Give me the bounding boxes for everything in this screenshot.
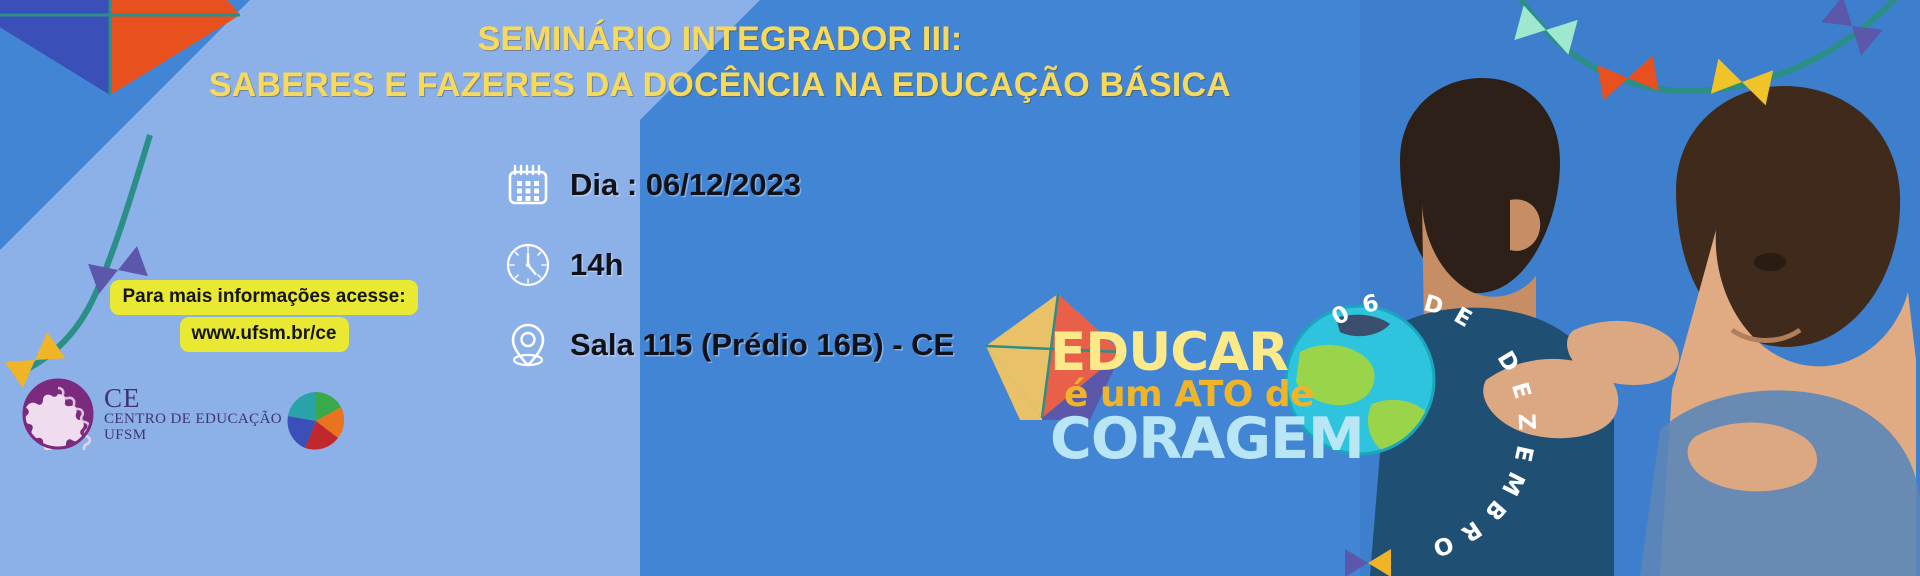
circular-date-letter: D — [1421, 290, 1446, 320]
bow-ribbon-icon — [1345, 545, 1391, 576]
ce-abbrev: CE — [104, 384, 282, 412]
calendar-icon — [500, 157, 556, 213]
circular-date-letter: M — [1496, 467, 1529, 499]
more-info-box: Para mais informações acesse: www.ufsm.b… — [84, 280, 444, 352]
event-location-text: Sala 115 (Prédio 16B) - CE — [570, 327, 954, 363]
circular-date-text: 06DEDEZEMBRO — [1255, 282, 1545, 572]
title-line-1: SEMINÁRIO INTEGRADOR III: — [0, 16, 1440, 62]
event-time-text: 14h — [570, 247, 623, 283]
ce-name: CENTRO DE EDUCAÇÃO — [104, 412, 282, 428]
circular-date-letter: D — [1492, 347, 1524, 377]
circular-date-letter: Z — [1513, 413, 1540, 431]
circular-date-letter: R — [1457, 515, 1486, 546]
event-time-row: 14h — [500, 228, 954, 302]
more-info-website[interactable]: www.ufsm.br/ce — [180, 317, 349, 352]
pinwheel-logo-icon — [285, 390, 347, 452]
event-date-row: Dia : 06/12/2023 — [500, 148, 954, 222]
circular-date-letter: B — [1479, 495, 1510, 525]
clock-icon — [500, 237, 556, 293]
event-details: Dia : 06/12/2023 14h — [500, 148, 954, 388]
circular-date-letter: E — [1506, 379, 1535, 402]
ce-logo: CE CENTRO DE EDUCAÇÃO UFSM — [22, 378, 282, 450]
ce-puzzle-icon — [22, 378, 94, 450]
ce-institution: UFSM — [104, 428, 282, 444]
circular-date-letter: 6 — [1360, 290, 1382, 319]
circular-date-letter: E — [1449, 303, 1476, 333]
circular-date-letter: O — [1429, 530, 1456, 561]
title-line-2: SABERES E FAZERES DA DOCÊNCIA NA EDUCAÇÃ… — [0, 62, 1440, 108]
kite-garland-icon — [1480, 0, 1920, 170]
event-location-row: Sala 115 (Prédio 16B) - CE — [500, 308, 954, 382]
location-pin-icon — [500, 317, 556, 373]
circular-date-letter: 0 — [1328, 301, 1354, 331]
event-date-text: Dia : 06/12/2023 — [570, 167, 801, 203]
more-info-line-1: Para mais informações acesse: — [110, 280, 417, 315]
ce-logo-text: CE CENTRO DE EDUCAÇÃO UFSM — [104, 384, 282, 444]
circular-date-letter: E — [1509, 443, 1538, 464]
page-title: SEMINÁRIO INTEGRADOR III: SABERES E FAZE… — [0, 16, 1440, 108]
event-banner: 06DEDEZEMBRO EDUCAR é um ATO de CORAGEM … — [0, 0, 1920, 576]
